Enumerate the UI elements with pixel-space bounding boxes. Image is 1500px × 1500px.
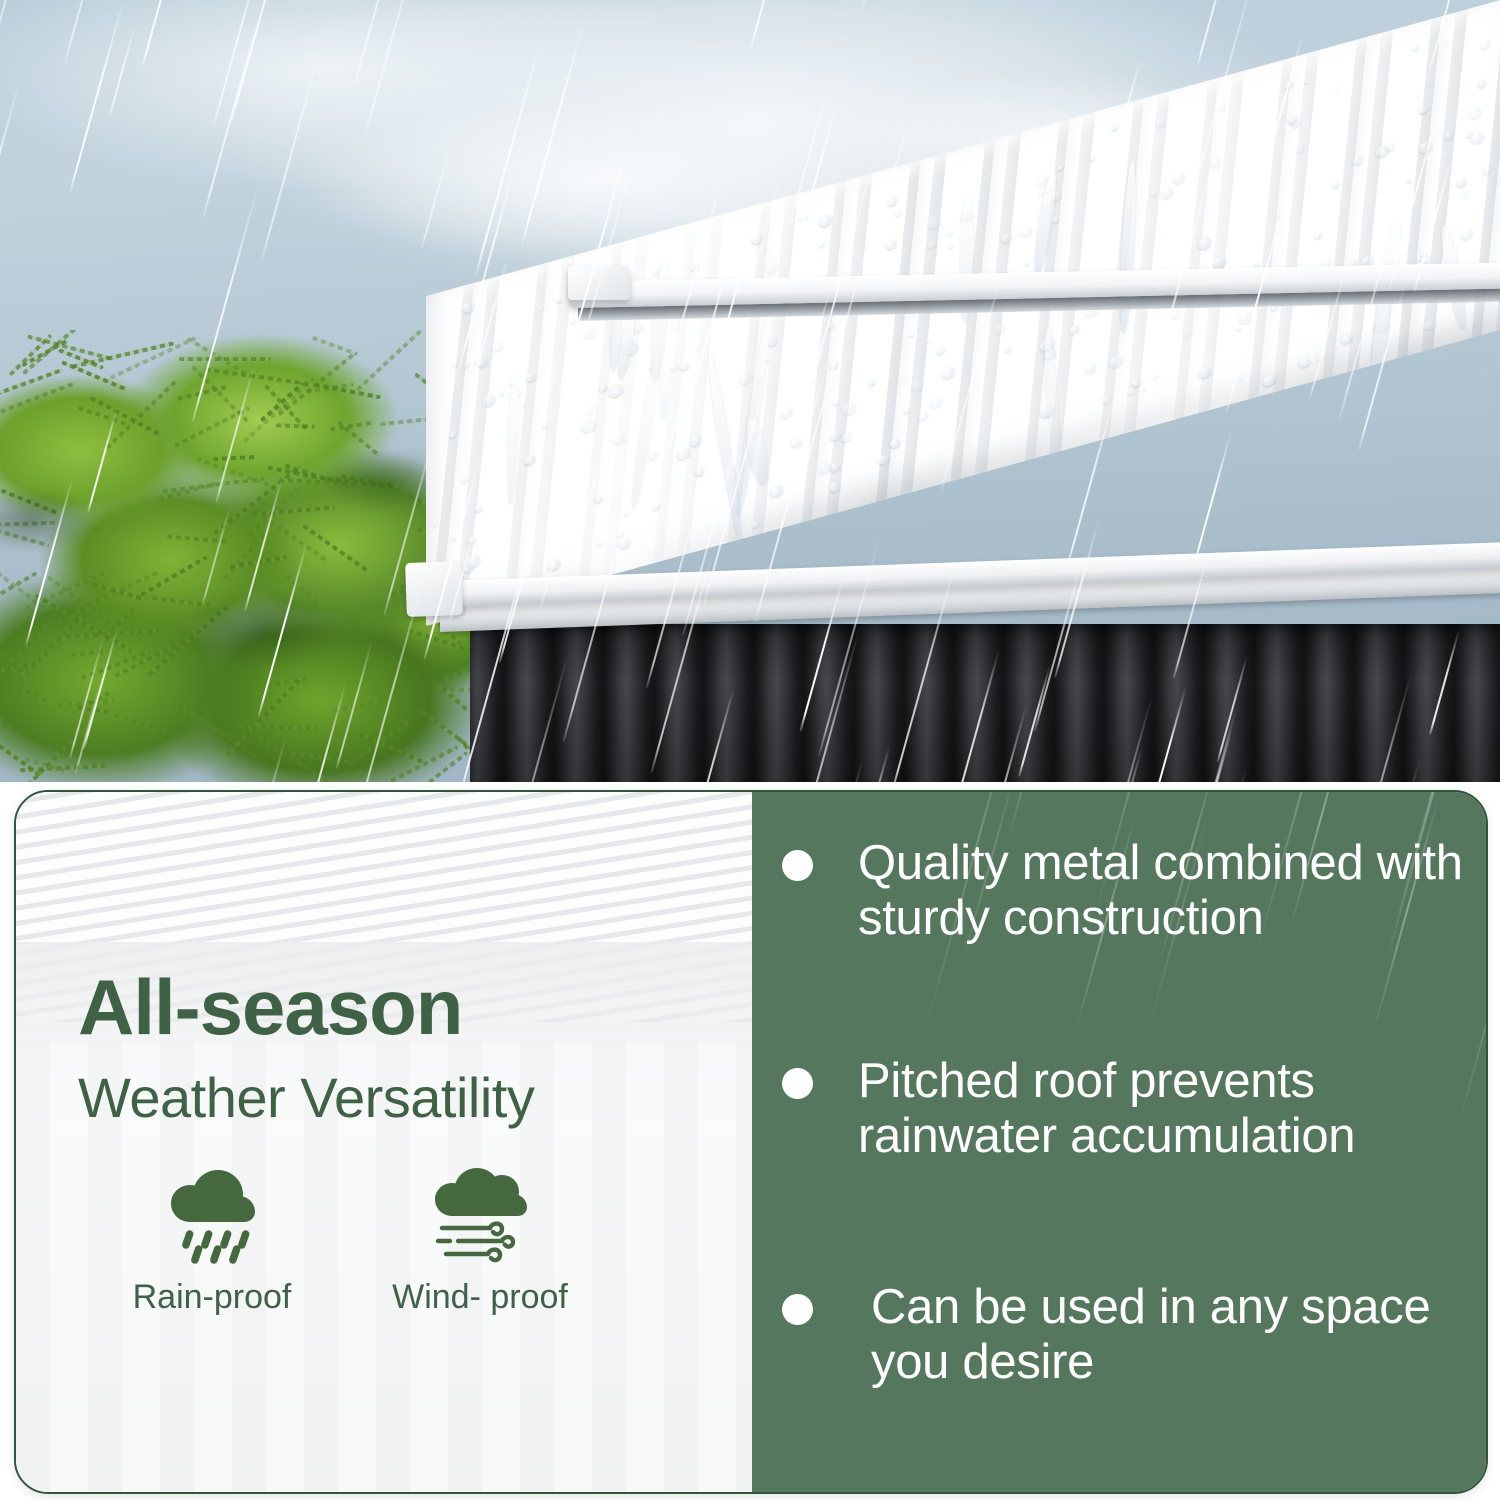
product-feature-banner: All-season Weather Versatility [0,0,1500,1500]
benefit-list: Quality metal combined with sturdy const… [752,792,1486,1492]
shed-wall-shading [470,624,1500,782]
roof-eave-corner [405,561,463,617]
metal-shed [400,286,1500,782]
feature-label-rain-proof: Rain-proof [133,1278,292,1317]
benefit-text-1: Quality metal combined with sturdy const… [858,836,1472,946]
benefit-item-1: Quality metal combined with sturdy const… [782,836,1472,946]
feature-icon-row: Rain-proof [78,1162,698,1317]
headline: All-season [78,968,462,1046]
card-left-panel: All-season Weather Versatility [16,792,752,1492]
benefit-item-2: Pitched roof prevents rainwater accumula… [782,1054,1472,1164]
rain-cloud-icon [160,1162,264,1266]
subheadline: Weather Versatility [78,1070,534,1126]
feature-wind-proof: Wind- proof [346,1162,614,1317]
card-right-panel: Quality metal combined with sturdy const… [752,792,1486,1492]
bullet-dot-icon [782,1068,813,1099]
benefit-item-3: Can be used in any space you desire [782,1280,1472,1390]
wind-cloud-icon [424,1162,536,1266]
feature-card: All-season Weather Versatility [14,790,1488,1494]
roof-ridge-end-cap [568,266,630,300]
hero-photo [0,0,1500,782]
benefit-text-2: Pitched roof prevents rainwater accumula… [858,1054,1472,1164]
benefit-text-3: Can be used in any space you desire [871,1280,1472,1390]
feature-label-wind-proof: Wind- proof [392,1278,568,1317]
bullet-dot-icon [782,850,813,881]
feature-rain-proof: Rain-proof [78,1162,346,1317]
bullet-dot-icon [782,1294,813,1325]
